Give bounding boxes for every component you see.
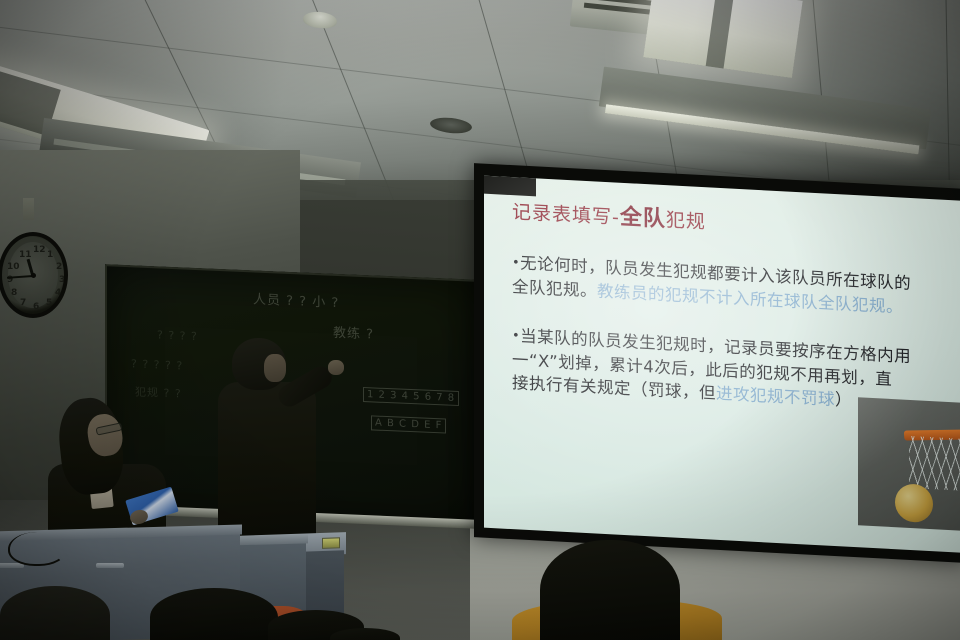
clock-numeral: 7 [20,298,26,308]
chalk-text: A B C D E F [371,415,446,433]
man-hand [328,360,344,375]
student-head [0,586,110,640]
student-head [540,540,680,640]
clock-numeral: 10 [7,262,20,272]
wall-plate [23,198,34,220]
slide-title-emphasis: 全队 [620,205,666,232]
slide-title-suffix: 犯规 [666,209,706,233]
projection-screen: 记录表填写-全队犯规 •无论何时，队员发生犯规都要计入该队员所在球队的 全队犯规… [474,163,960,563]
woman-at-podium [44,398,184,548]
bullet-1-line-2-plain: 全队犯规。 [512,277,597,300]
clock-numeral: 12 [33,245,46,255]
hoop-net-icon [909,436,960,492]
student-head [150,588,278,640]
lectern-handle [96,563,124,568]
slide-title: 记录表填写-全队犯规 [512,199,960,249]
bullet-2-line-3-highlight: 进攻犯规不罚球 [716,384,835,409]
clock-numeral: 3 [59,275,65,285]
basketball-hoop-image [858,397,960,531]
projection-screen-surface: 记录表填写-全队犯规 •无论何时，队员发生犯规都要计入该队员所在球队的 全队犯规… [484,176,960,553]
desk-panel-light [322,537,340,549]
clock-numeral: 5 [46,298,52,308]
chalk-text: ? ? ? ? ? [131,357,183,372]
podium-cable [8,532,66,566]
slide-title-prefix: 记录表填写- [512,201,620,229]
clock-numeral: 6 [33,302,39,312]
bullet-marker: • [512,329,520,344]
presentation-slide: 记录表填写-全队犯规 •无论何时，队员发生犯规都要计入该队员所在球队的 全队犯规… [484,176,960,553]
man-jacket [218,382,316,542]
bullet-2-line-3-b: ） [835,390,852,410]
basketball-icon [895,484,933,524]
clock-numeral: 2 [56,262,62,272]
clock-numeral: 4 [55,288,61,298]
chalk-text: ? ? ? ? [157,328,198,343]
classroom-photo: 12 1 2 3 4 5 6 7 8 9 10 11 人员 ? ? 小 ? 教练… [0,0,960,640]
bullet-marker: • [512,256,520,271]
slide-bullet-1: •无论何时，队员发生犯规都要计入该队员所在球队的 全队犯规。教练员的犯规不计入所… [512,251,960,321]
wall-clock: 12 1 2 3 4 5 6 7 8 9 10 11 [0,232,68,318]
chalk-text: 人员 ? ? 小 ? [253,288,339,311]
clock-numeral: 8 [11,288,17,298]
man-face [264,354,286,382]
clock-numeral: 1 [47,250,53,260]
